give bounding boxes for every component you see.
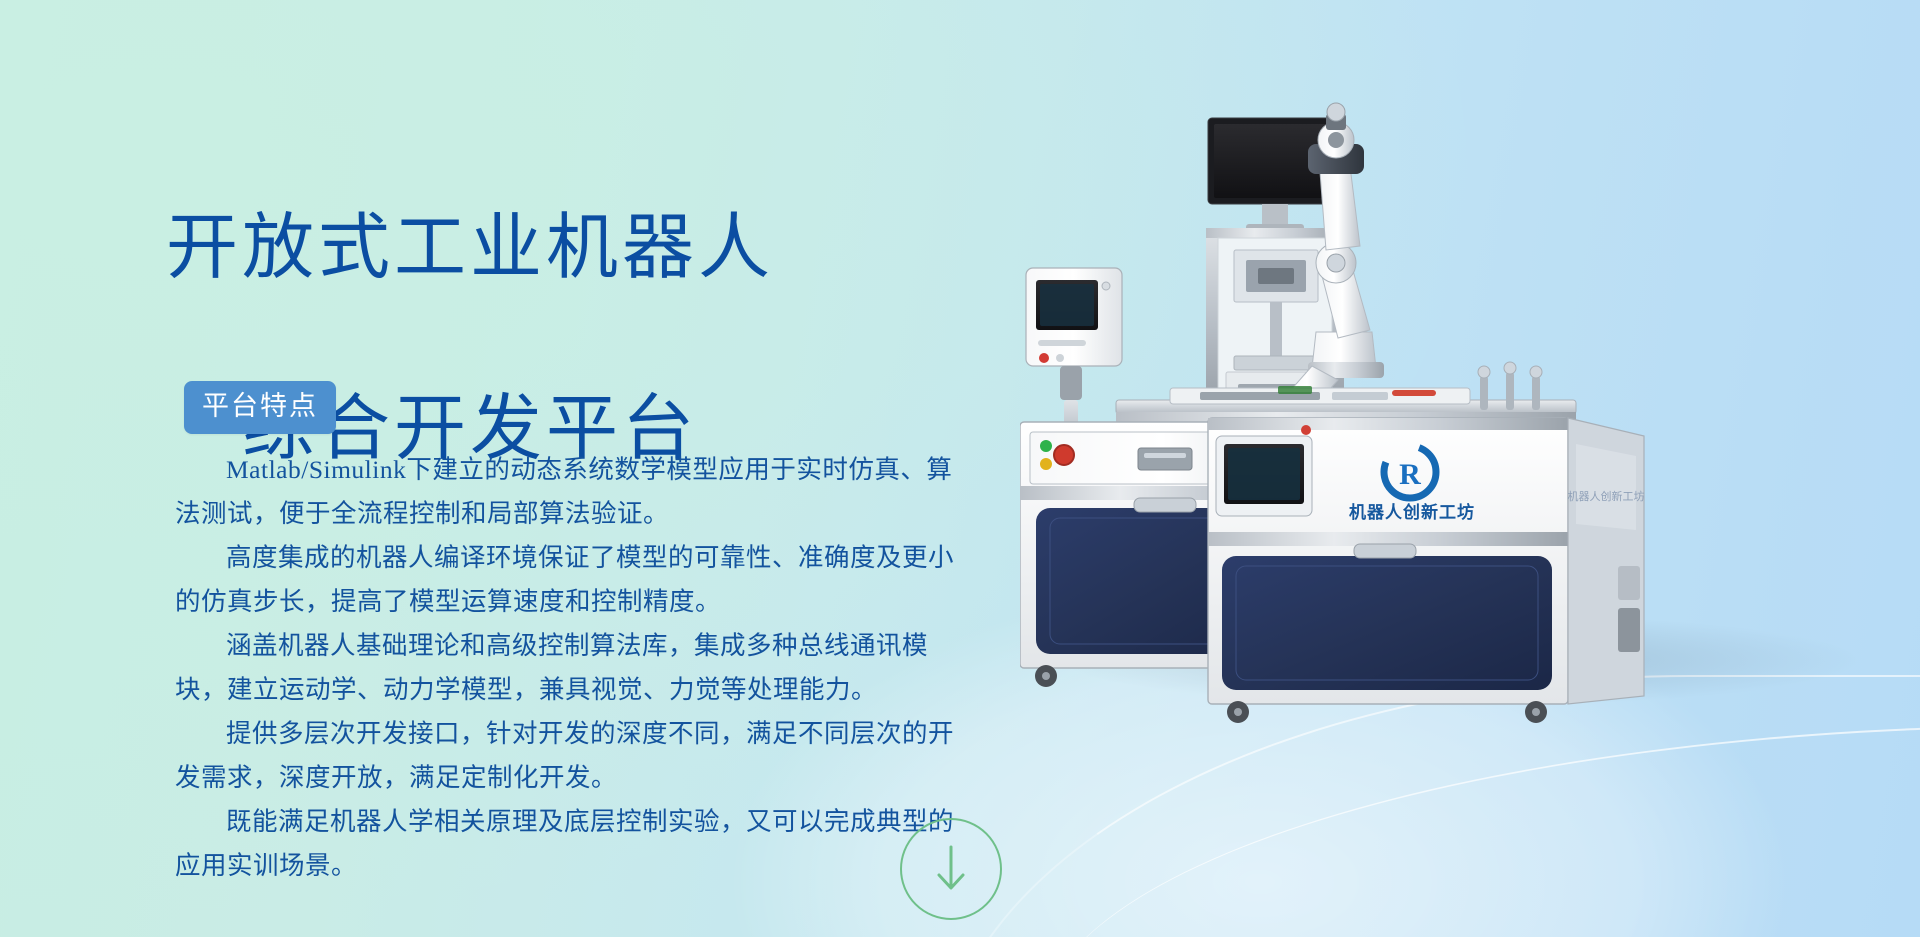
feature-item: 涵盖机器人基础理论和高级控制算法库，集成多种总线通讯模块，建立运动学、动力学模型… (175, 624, 975, 712)
svg-text:R: R (1399, 458, 1421, 491)
feature-item: 提供多层次开发接口，针对开发的深度不同，满足不同层次的开发需求，深度开放，满足定… (175, 712, 975, 800)
hmi-touchscreen (1216, 425, 1312, 516)
feature-item: 既能满足机器人学相关原理及底层控制实验，又可以完成典型的应用实训场景。 (175, 800, 975, 888)
feature-item: 高度集成的机器人编译环境保证了模型的可靠性、准确度及更小的仿真步长，提高了模型运… (175, 536, 975, 624)
svg-text:机器人创新工坊: 机器人创新工坊 (1568, 489, 1645, 503)
scroll-down-button[interactable] (900, 818, 1002, 920)
arrow-down-icon (931, 841, 971, 897)
product-image: R 机器人创新工坊 机器人创新工坊 (1020, 100, 1900, 780)
page-title-line1: 开放式工业机器人 (0, 203, 940, 294)
hero-content: 开放式工业机器人 综合开发平台 平台特点 Matlab/Simulink下建立的… (0, 0, 1000, 937)
hero-banner: 开放式工业机器人 综合开发平台 平台特点 Matlab/Simulink下建立的… (0, 0, 1920, 937)
control-cabinet-right: R 机器人创新工坊 (1208, 418, 1568, 723)
svg-text:机器人创新工坊: 机器人创新工坊 (1349, 502, 1475, 522)
feature-list: Matlab/Simulink下建立的动态系统数学模型应用于实时仿真、算法测试，… (175, 448, 975, 888)
feature-item: Matlab/Simulink下建立的动态系统数学模型应用于实时仿真、算法测试，… (175, 448, 975, 536)
status-badge: 平台特点 (184, 381, 336, 434)
cabinet-side-panel: 机器人创新工坊 (1568, 418, 1645, 704)
